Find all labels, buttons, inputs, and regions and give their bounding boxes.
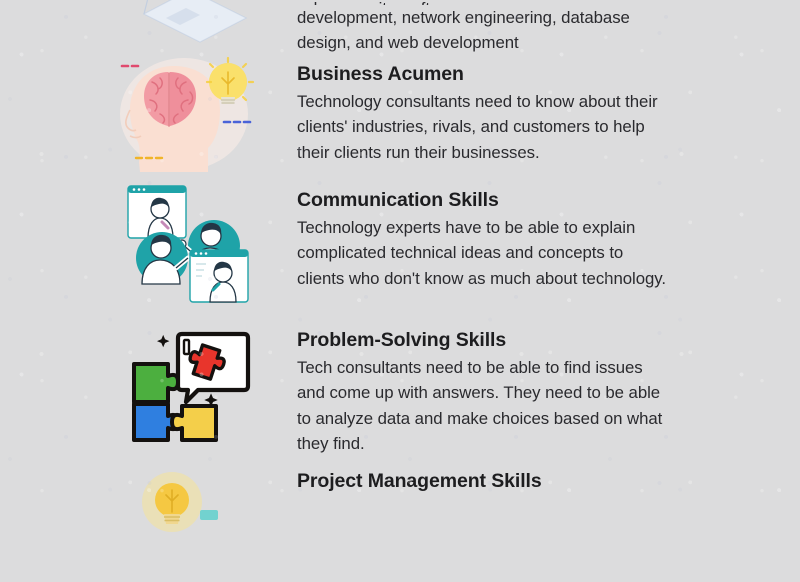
section-problem-solving-skills: Problem-Solving Skills Tech consultants … [297,329,667,457]
body-problem-solving-skills: Tech consultants need to be able to find… [297,355,667,457]
intro-line-2: development, network engineering, databa… [297,5,677,30]
heading-project-management-skills: Project Management Skills [297,470,667,492]
puzzle-pieces-speech-bubble-illustration [126,320,252,440]
head-brain-lightbulb-illustration [112,52,254,172]
infographic-page: cybersecurity, software development, net… [0,0,800,500]
video-call-people-illustration [126,184,252,304]
heading-business-acumen: Business Acumen [297,63,667,85]
intro-continued-text: cybersecurity, software development, net… [297,0,677,56]
section-project-management-skills: Project Management Skills [297,470,667,496]
lightbulb-illustration [128,462,254,582]
body-communication-skills: Technology experts have to be able to ex… [297,215,667,291]
section-communication-skills: Communication Skills Technology experts … [297,189,667,291]
heading-communication-skills: Communication Skills [297,189,667,211]
body-business-acumen: Technology consultants need to know abou… [297,89,667,165]
laptop-isometric-illustration [124,0,256,42]
heading-problem-solving-skills: Problem-Solving Skills [297,329,667,351]
section-business-acumen: Business Acumen Technology consultants n… [297,63,667,165]
intro-line-3: design, and web development [297,30,677,55]
